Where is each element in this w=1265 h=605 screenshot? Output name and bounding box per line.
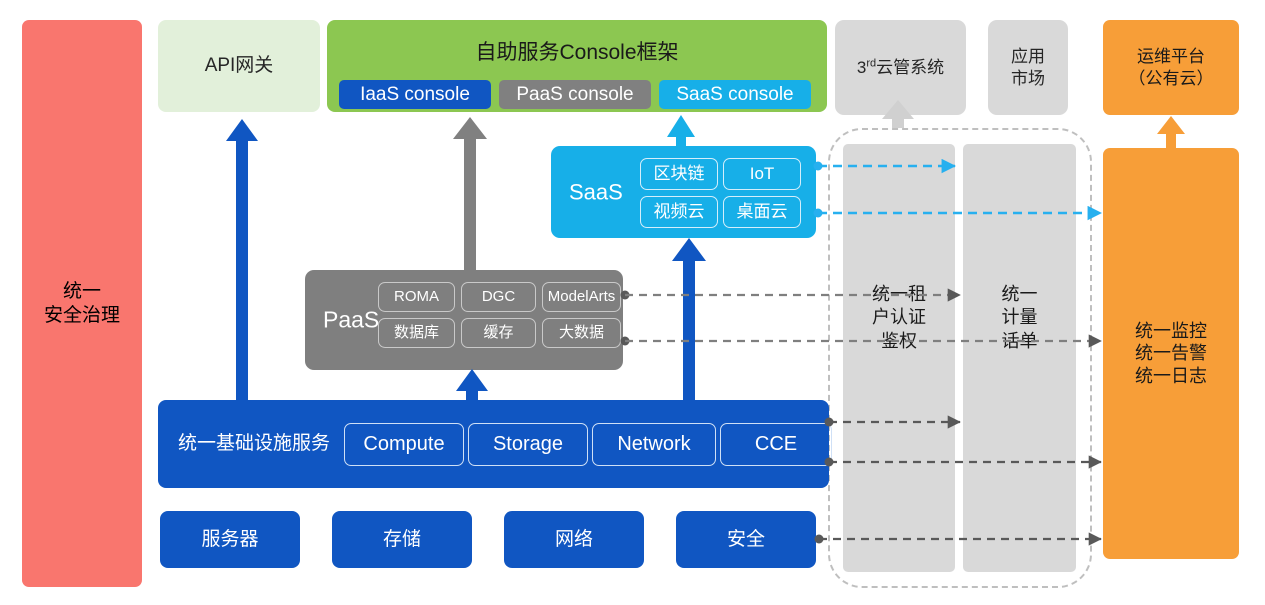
saas-chip-desktop-cloud-label: 桌面云 [737,201,788,222]
console-chip-iaas[interactable]: IaaS console [339,80,491,109]
hardware-box-storage-label: 存储 [383,528,421,552]
security-governance-label: 统一 安全治理 [44,280,120,328]
app-market-label: 应用 市场 [1011,46,1045,89]
architecture-diagram: 统一 安全治理 API网关 自助服务Console框架 IaaS console… [0,0,1265,605]
saas-chip-iot[interactable]: IoT [723,158,801,190]
arrow-infra-to-saas [672,238,706,400]
monitoring-panel: 统一监控 统一告警 统一日志 [1103,148,1239,559]
infra-chip-cce[interactable]: CCE [720,423,832,466]
console-framework-title: 自助服务Console框架 [327,40,827,66]
infra-chip-storage-label: Storage [493,432,563,457]
paas-chip-roma-label: ROMA [394,288,439,307]
paas-chip-bigdata[interactable]: 大数据 [542,318,621,348]
console-chip-saas-label: SaaS console [676,83,793,107]
paas-chip-modelarts[interactable]: ModelArts [542,282,621,312]
paas-chip-dgc-label: DGC [482,288,515,307]
third-party-cloud-mgmt-box[interactable]: 3rd云管系统 [835,20,966,115]
infra-chip-network[interactable]: Network [592,423,716,466]
console-chip-paas[interactable]: PaaS console [499,80,651,109]
shared-column-tenant-auth-bg [843,144,955,572]
saas-chip-video-cloud[interactable]: 视频云 [640,196,718,228]
saas-chip-video-cloud-label: 视频云 [654,201,705,222]
paas-chip-database-label: 数据库 [394,324,439,343]
hardware-box-security-label: 安全 [727,528,765,552]
paas-chip-cache-label: 缓存 [483,324,513,343]
api-gateway-box[interactable]: API网关 [158,20,320,112]
hardware-box-security[interactable]: 安全 [676,511,816,568]
infrastructure-label: 统一基础设施服务 [178,432,330,456]
paas-chip-bigdata-label: 大数据 [559,324,604,343]
paas-label: PaaS [323,306,379,335]
console-chip-paas-label: PaaS console [516,83,633,107]
arrow-paas-to-console [453,117,487,270]
shared-column-metering-label: 统一 计量 话单 [963,283,1076,353]
third-party-cloud-mgmt-label: 3rd云管系统 [857,57,944,78]
paas-chip-roma[interactable]: ROMA [378,282,455,312]
shared-column-metering-bg [963,144,1076,572]
shared-column-tenant-auth-label: 统一租 户认证 鉴权 [843,283,955,353]
saas-chip-blockchain-label: 区块链 [654,163,705,184]
infra-chip-compute-label: Compute [363,432,444,457]
arrow-saas-to-console [667,115,695,146]
console-framework-panel: 自助服务Console框架 IaaS console PaaS console … [327,20,827,112]
saas-chip-blockchain[interactable]: 区块链 [640,158,718,190]
app-market-box[interactable]: 应用 市场 [988,20,1068,115]
infra-chip-storage[interactable]: Storage [468,423,588,466]
arrow-infra-to-api-gateway [226,119,258,400]
console-chip-iaas-label: IaaS console [360,83,470,107]
monitoring-label: 统一监控 统一告警 统一日志 [1135,320,1207,388]
hardware-box-storage[interactable]: 存储 [332,511,472,568]
paas-chip-database[interactable]: 数据库 [378,318,455,348]
arrow-infra-to-paas [456,369,488,400]
saas-chip-desktop-cloud[interactable]: 桌面云 [723,196,801,228]
paas-chip-dgc[interactable]: DGC [461,282,536,312]
infra-chip-network-label: Network [617,432,690,457]
api-gateway-label: API网关 [205,54,274,78]
infra-chip-compute[interactable]: Compute [344,423,464,466]
ops-platform-box[interactable]: 运维平台 （公有云） [1103,20,1239,115]
hardware-box-server-label: 服务器 [201,528,258,552]
security-governance-panel: 统一 安全治理 [22,20,142,587]
paas-chip-modelarts-label: ModelArts [548,288,616,307]
infrastructure-panel: 统一基础设施服务 Compute Storage Network CCE [158,400,829,488]
paas-chip-cache[interactable]: 缓存 [461,318,536,348]
infra-chip-cce-label: CCE [755,432,797,457]
hardware-box-server[interactable]: 服务器 [160,511,300,568]
saas-panel: SaaS 区块链 IoT 视频云 桌面云 [551,146,816,238]
saas-chip-iot-label: IoT [750,163,775,184]
ops-platform-label: 运维平台 （公有云） [1129,46,1214,89]
saas-label: SaaS [569,178,623,206]
hardware-box-network-label: 网络 [555,528,593,552]
hardware-box-network[interactable]: 网络 [504,511,644,568]
console-chip-saas[interactable]: SaaS console [659,80,811,109]
arrow-monitoring-to-ops-platform [1157,116,1185,148]
paas-panel: PaaS ROMA DGC ModelArts 数据库 缓存 大数据 [305,270,623,370]
